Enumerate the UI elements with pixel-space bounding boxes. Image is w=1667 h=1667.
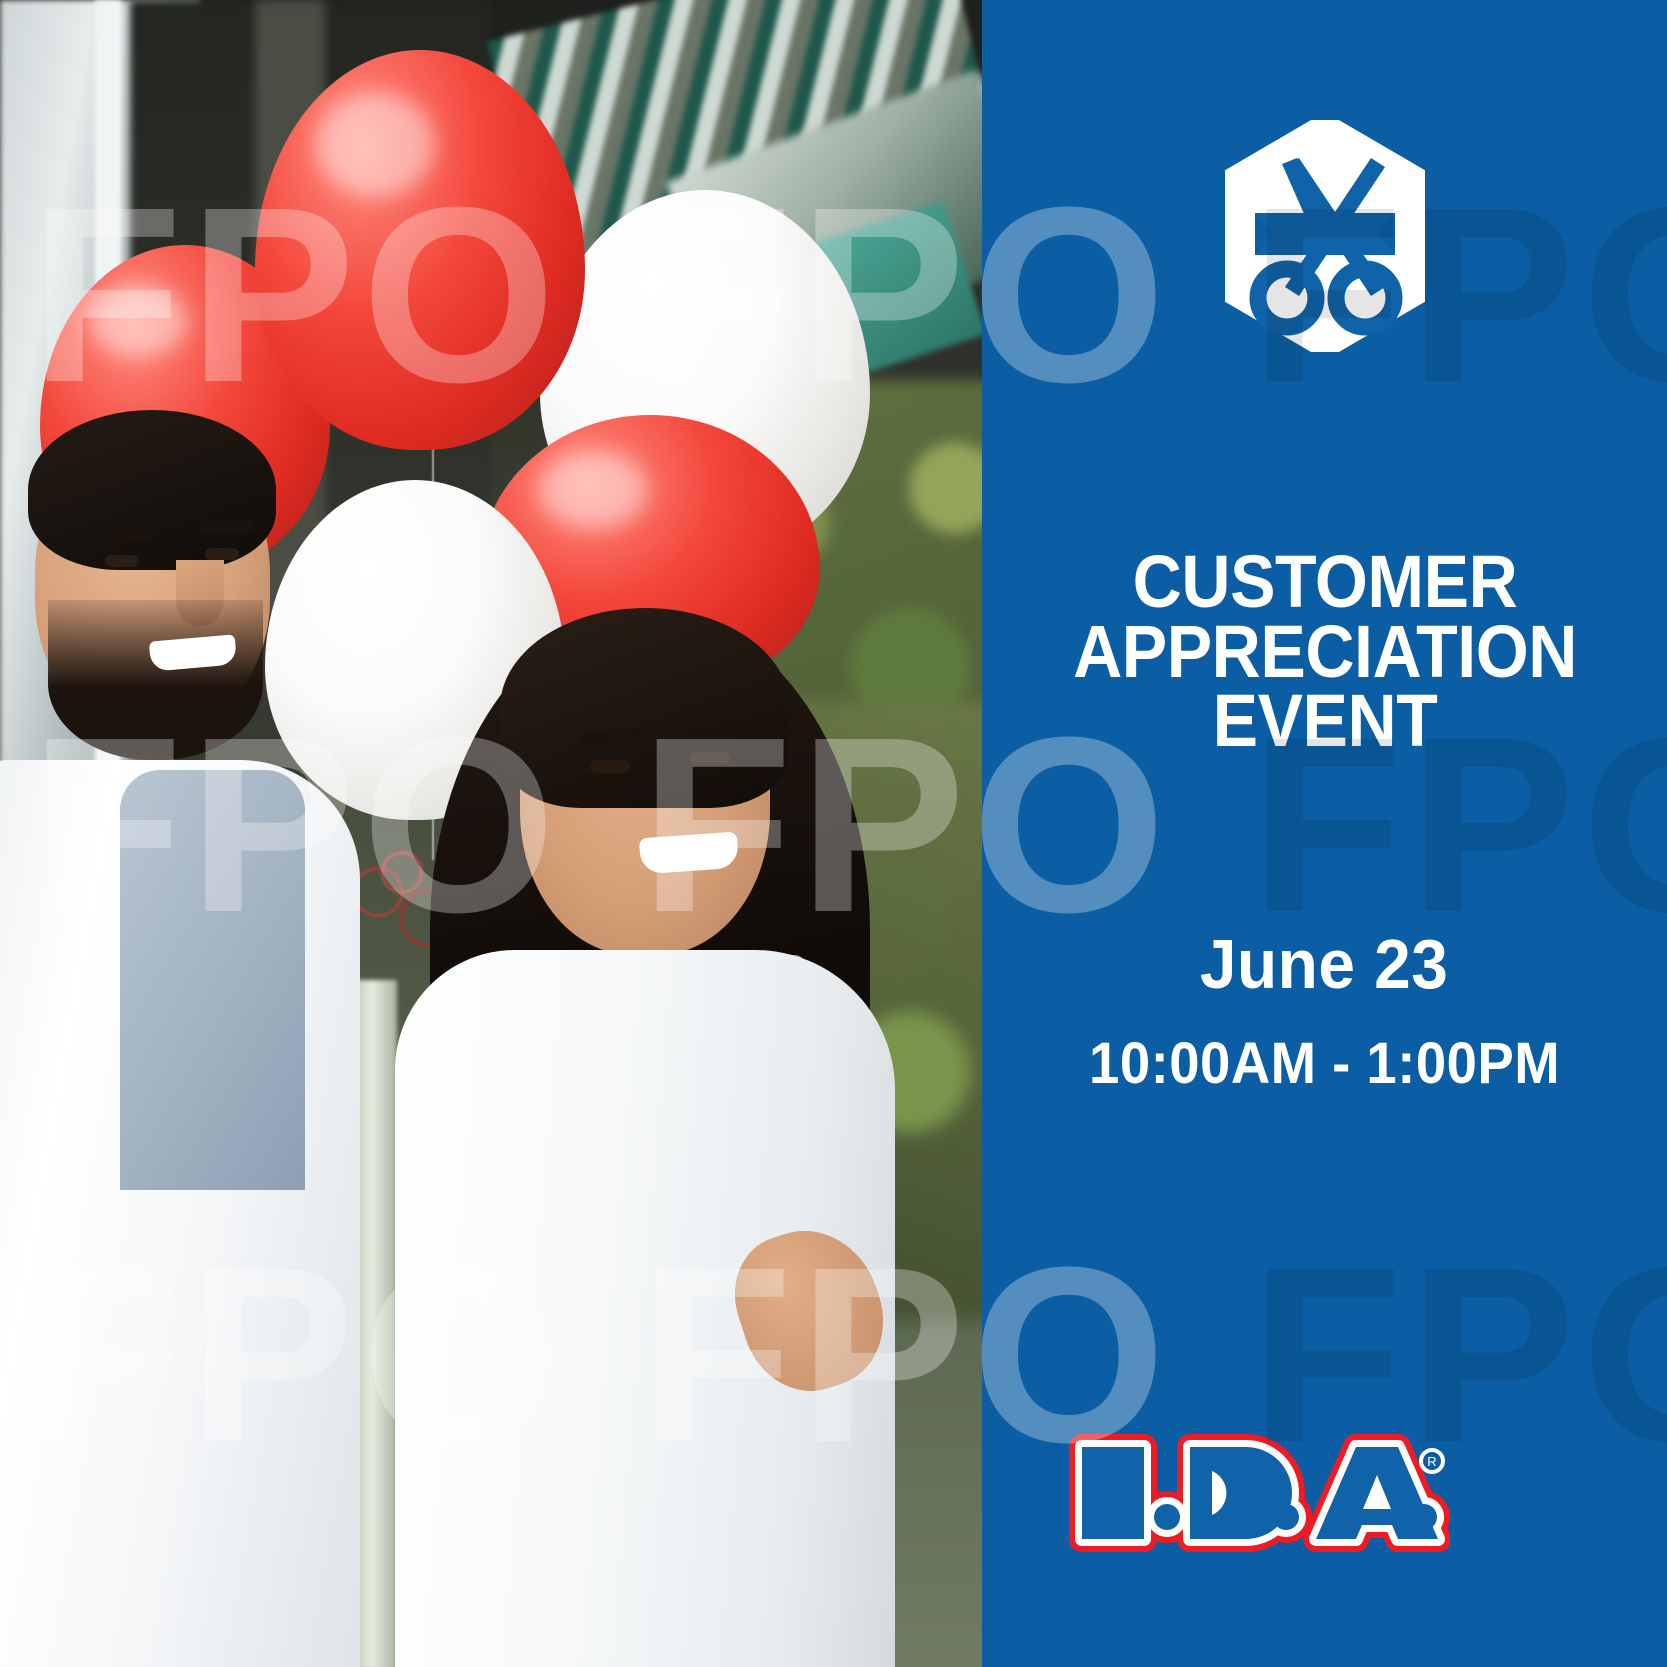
pharmacist-man-eye — [205, 548, 239, 560]
pharmacist-man-eye — [105, 555, 139, 567]
title-line-2: APPRECIATION — [1030, 617, 1619, 687]
info-panel: CUSTOMER APPRECIATION EVENT June 23 10:0… — [982, 0, 1667, 1667]
title-line-1: CUSTOMER — [1030, 547, 1619, 617]
event-photo — [0, 0, 982, 1667]
pharmacist-woman-eye — [690, 752, 730, 765]
event-time: 10:00AM - 1:00PM — [1089, 1030, 1560, 1097]
pharmacist-man-hair — [28, 410, 276, 570]
pharmacist-man-shirt — [120, 770, 305, 1190]
pharmacist-woman-hairline — [500, 608, 790, 808]
scissors-ribbon-hexagon-icon — [1225, 120, 1425, 352]
ida-brand-logo: R — [1060, 1421, 1450, 1561]
title-line-3: EVENT — [1030, 686, 1619, 756]
page-title: CUSTOMER APPRECIATION EVENT — [1030, 547, 1619, 756]
pharmacist-man-beard — [48, 600, 263, 760]
svg-text:R: R — [1427, 1454, 1436, 1469]
pharmacist-woman-eye — [590, 760, 630, 773]
event-date: June 23 — [1200, 924, 1448, 1004]
light-pole — [355, 980, 397, 1667]
promo-poster: CUSTOMER APPRECIATION EVENT June 23 10:0… — [0, 0, 1667, 1667]
